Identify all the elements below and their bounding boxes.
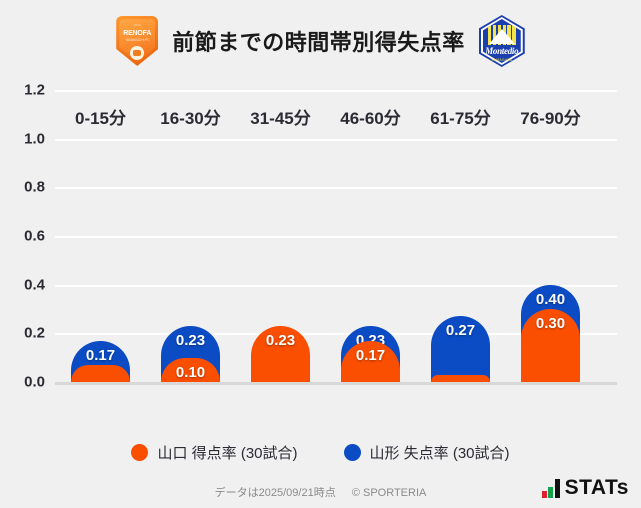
bar-value-label: 0.23 bbox=[251, 332, 310, 349]
stats-logo: STATs bbox=[542, 476, 629, 500]
stats-logo-word: STATs bbox=[565, 476, 629, 500]
montedio-yamagata-crest-icon: Montedio YAMAGATA bbox=[479, 15, 525, 67]
y-axis-tick-label: 0.2 bbox=[24, 325, 45, 342]
legend-label: 山形 失点率 (30試合) bbox=[370, 442, 510, 463]
bar-group[interactable]: 0.400.3076-90分 bbox=[521, 90, 580, 382]
x-axis-tick-label: 0-15分 bbox=[75, 104, 126, 129]
x-axis-tick-label: 76-90分 bbox=[520, 104, 580, 129]
bar-score-rate[interactable] bbox=[431, 375, 490, 382]
y-axis-tick-label: 0.8 bbox=[24, 179, 45, 196]
crest-subname-text: YAMAGATA bbox=[479, 58, 525, 62]
crest-mountain-shape bbox=[489, 29, 515, 44]
y-axis-tick-label: 0.0 bbox=[24, 374, 45, 391]
bar-score-rate[interactable]: 0.30 bbox=[521, 309, 580, 382]
footer-data-date: データは2025/09/21時点 bbox=[215, 487, 336, 499]
crest-word-text: RENOFA bbox=[116, 30, 158, 37]
bar-value-label: 0.27 bbox=[431, 322, 490, 339]
x-axis-tick-label: 46-60分 bbox=[340, 104, 400, 129]
stats-logo-bars-icon bbox=[542, 479, 560, 498]
footer-copyright: © SPORTERIA bbox=[352, 487, 427, 499]
y-axis-tick-label: 0.4 bbox=[24, 276, 45, 293]
crest-name-text: Montedio bbox=[479, 46, 525, 56]
crest-top-text: 2014 bbox=[116, 23, 158, 27]
legend-color-dot-icon bbox=[131, 444, 148, 461]
page-title: 前節までの時間帯別得失点率 bbox=[172, 25, 465, 57]
chart-plot-wrapper: 0.00.20.40.60.81.01.2 0.170-15分0.230.101… bbox=[0, 76, 641, 396]
bar-score-rate[interactable]: 0.23 bbox=[251, 326, 310, 382]
chart-header: 2014 RENOFA YAMAGUCHI FC 前節までの時間帯別得失点率 M… bbox=[0, 0, 641, 76]
y-axis-tick-label: 0.6 bbox=[24, 228, 45, 245]
crest-sub-text: YAMAGUCHI FC bbox=[116, 38, 158, 42]
chart-plot-area: 0.00.20.40.60.81.01.2 0.170-15分0.230.101… bbox=[55, 90, 617, 382]
bar-group[interactable]: 0.230.1746-60分 bbox=[341, 90, 400, 382]
bar-group[interactable]: 0.230.1016-30分 bbox=[161, 90, 220, 382]
legend-label: 山口 得点率 (30試合) bbox=[157, 442, 297, 463]
legend-item[interactable]: 山口 得点率 (30試合) bbox=[131, 442, 297, 463]
bar-score-rate[interactable]: 0.17 bbox=[341, 341, 400, 382]
legend-item[interactable]: 山形 失点率 (30試合) bbox=[344, 442, 510, 463]
legend-color-dot-icon bbox=[344, 444, 361, 461]
bar-value-label: 0.30 bbox=[521, 315, 580, 332]
x-axis-tick-label: 16-30分 bbox=[160, 104, 220, 129]
bar-value-label: 0.23 bbox=[161, 332, 220, 349]
bar-group[interactable]: 0.170-15分 bbox=[71, 90, 130, 382]
bar-group[interactable]: 0.170.2331-45分 bbox=[251, 90, 310, 382]
x-axis-tick-label: 31-45分 bbox=[250, 104, 310, 129]
x-axis-tick-label: 61-75分 bbox=[430, 104, 490, 129]
bar-value-label: 0.17 bbox=[71, 347, 130, 364]
bar-value-label: 0.10 bbox=[161, 364, 220, 381]
bar-value-label: 0.40 bbox=[521, 291, 580, 308]
chart-legend: 山口 得点率 (30試合)山形 失点率 (30試合) bbox=[0, 442, 641, 463]
renofa-yamaguchi-crest-icon: 2014 RENOFA YAMAGUCHI FC bbox=[116, 16, 158, 66]
y-axis-tick-label: 1.0 bbox=[24, 130, 45, 147]
bar-concede-rate[interactable]: 0.27 bbox=[431, 316, 490, 382]
crest-emblem-mark bbox=[130, 46, 144, 60]
y-axis-tick-label: 1.2 bbox=[24, 82, 45, 99]
chart-x-axis-baseline bbox=[55, 382, 617, 385]
bar-score-rate[interactable] bbox=[71, 365, 130, 382]
bar-value-label: 0.17 bbox=[341, 347, 400, 364]
bar-group[interactable]: 0.2761-75分 bbox=[431, 90, 490, 382]
